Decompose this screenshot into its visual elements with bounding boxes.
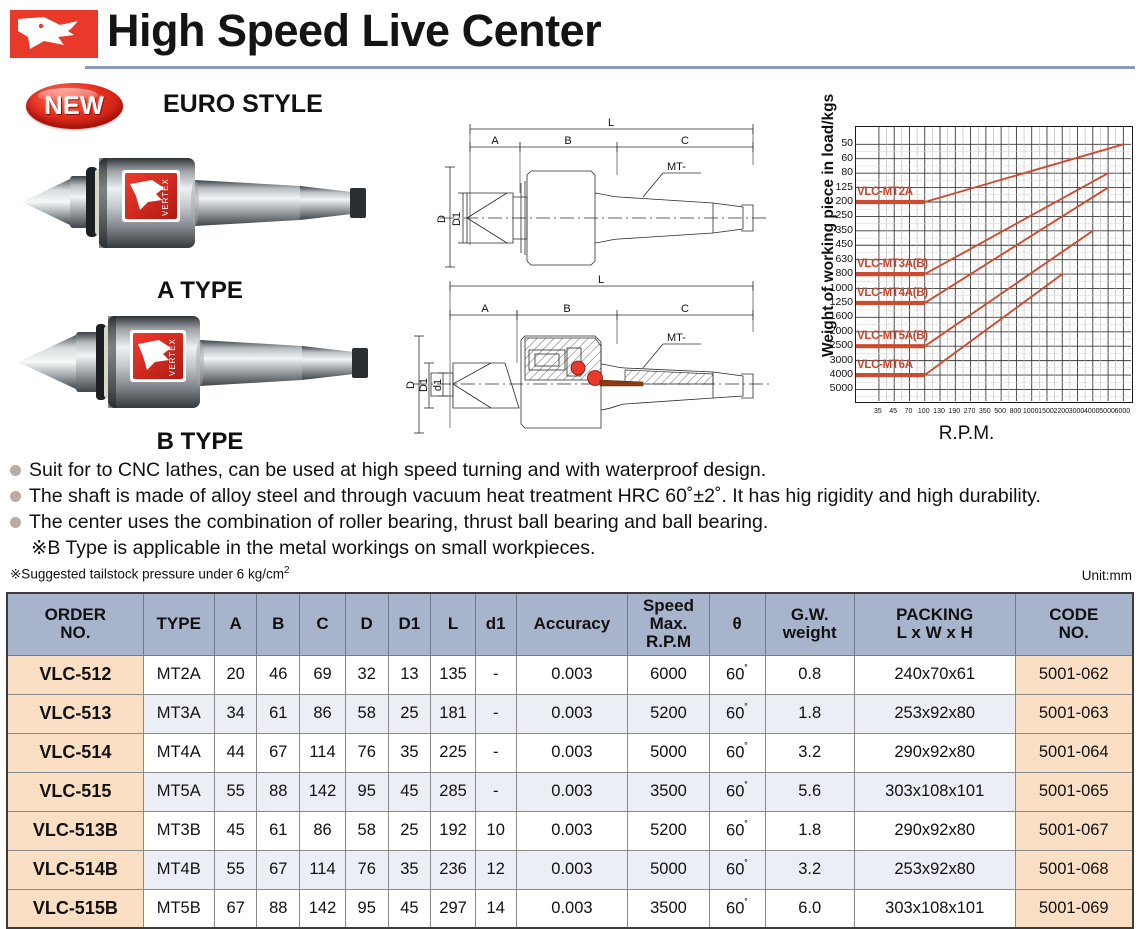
technical-drawing-a-type: L A B C MT- D D1 [395,115,785,275]
col-code-no: CODE NO. [1015,593,1133,655]
cell-l: 225 [431,733,476,772]
cell-d1l: 12 [475,850,516,889]
unit-note: Unit:mm [1082,568,1132,583]
cell-order-no: VLC-514B [7,850,143,889]
cell-type: MT2A [143,655,214,694]
bullet-text: The center uses the combination of rolle… [29,510,768,535]
cell-order-no: VLC-513 [7,694,143,733]
tailstock-pressure-text: ※Suggested tailstock pressure under 6 kg… [10,567,284,582]
svg-text:A: A [481,303,489,315]
cell-c: 114 [300,733,346,772]
cell-d1l: 10 [475,811,516,850]
chart-x-tick-label: 1000 [1023,408,1039,415]
list-item: The center uses the combination of rolle… [10,510,1140,535]
table-row: VLC-514MT4A44671147635225-0.003500060˚3.… [7,733,1133,772]
specification-table: ORDER NO. TYPE A B C D D1 L d1 Accuracy … [6,592,1134,929]
cell-a: 34 [214,694,257,733]
col-packing-line1: PACKING [855,606,1015,624]
cell-d1u: 13 [388,655,431,694]
chart-x-tick-label: 130 [933,408,945,415]
cell-b: 67 [257,850,300,889]
cell-speed: 3500 [628,889,709,928]
photo-caption-b: B TYPE [0,428,400,456]
cell-theta: 60˚ [709,850,765,889]
chart-series-label: VLC-MT5A(B) [857,330,928,342]
cell-d: 95 [345,772,388,811]
chart-y-tick-label: 125 [797,181,853,193]
chart-y-tick-label: 4000 [797,368,853,380]
svg-text:d1: d1 [432,379,444,391]
chart-x-tick-label: 100 [918,408,930,415]
svg-text:MT-: MT- [667,332,686,344]
table-row: VLC-513MT3A3461865825181-0.003520060˚1.8… [7,694,1133,733]
chart-x-tick-label: 35 [874,408,882,415]
cell-speed: 3500 [628,772,709,811]
cell-d: 58 [345,694,388,733]
cell-b: 61 [257,811,300,850]
cell-order-no: VLC-513B [7,811,143,850]
cell-b: 88 [257,889,300,928]
cell-code-no: 5001-065 [1015,772,1133,811]
svg-text:B: B [563,303,570,315]
cell-l: 181 [431,694,476,733]
cell-speed: 5200 [628,694,709,733]
pressure-exponent: 2 [284,565,290,576]
cell-l: 236 [431,850,476,889]
chart-series-label: VLC-MT4A(B) [857,287,928,299]
cell-type: MT3A [143,694,214,733]
cell-speed: 5200 [628,811,709,850]
col-order-no: ORDER NO. [7,593,143,655]
chart-y-tick-label: 80 [797,166,853,178]
cell-type: MT5A [143,772,214,811]
chart-series-label: VLC-MT2A [857,186,913,198]
cell-gw: 1.8 [765,694,854,733]
cell-gw: 3.2 [765,850,854,889]
cell-l: 135 [431,655,476,694]
col-packing-line2: L x W x H [855,624,1015,642]
cell-b: 46 [257,655,300,694]
cell-packing: 253x92x80 [854,850,1015,889]
cell-gw: 5.6 [765,772,854,811]
cell-a: 55 [214,772,257,811]
new-badge: NEW [26,83,123,129]
product-photo-b-type: VERTEX [0,300,400,425]
cell-type: MT5B [143,889,214,928]
list-item: Suit for to CNC lathes, can be used at h… [10,458,1140,483]
col-d: D [345,593,388,655]
table-row: VLC-512MT2A2046693213135-0.003600060˚0.8… [7,655,1133,694]
cell-packing: 290x92x80 [854,811,1015,850]
chart-x-tick-label: 4000 [1084,408,1100,415]
cell-order-no: VLC-515B [7,889,143,928]
cell-code-no: 5001-067 [1015,811,1133,850]
cell-d: 76 [345,850,388,889]
svg-text:D1: D1 [451,212,463,226]
svg-text:L: L [598,274,604,286]
col-gw-line1: G.W. [766,606,854,624]
chart-y-tick-label: 3000 [797,354,853,366]
list-item: The shaft is made of alloy steel and thr… [10,484,1140,509]
cell-a: 67 [214,889,257,928]
chart-x-tick-label: 6000 [1115,408,1131,415]
cell-accuracy: 0.003 [516,889,628,928]
bullet-text: The shaft is made of alloy steel and thr… [29,484,1041,509]
cell-theta: 60˚ [709,811,765,850]
col-l: L [431,593,476,655]
svg-text:D1: D1 [418,378,430,392]
chart-y-tick-label: 2500 [797,339,853,351]
cell-d1l: 14 [475,889,516,928]
table-header-row: ORDER NO. TYPE A B C D D1 L d1 Accuracy … [7,593,1133,655]
cell-d1u: 45 [388,772,431,811]
chart-y-tick-label: 2000 [797,325,853,337]
svg-text:MT-: MT- [667,161,686,173]
cell-l: 285 [431,772,476,811]
page-title: High Speed Live Center [107,5,601,57]
cell-speed: 5000 [628,850,709,889]
cell-packing: 303x108x101 [854,889,1015,928]
cell-l: 297 [431,889,476,928]
svg-text:C: C [681,135,689,147]
svg-text:A: A [491,135,499,147]
feature-bullet-list: Suit for to CNC lathes, can be used at h… [10,458,1140,561]
cell-type: MT4A [143,733,214,772]
cell-speed: 6000 [628,655,709,694]
cell-code-no: 5001-062 [1015,655,1133,694]
col-gw-line2: weight [766,624,854,642]
cell-accuracy: 0.003 [516,772,628,811]
cell-b: 88 [257,772,300,811]
chart-y-tick-label: 60 [797,152,853,164]
col-speed-line3: R.P.M [628,633,708,651]
svg-text:D: D [405,381,417,389]
chart-x-tick-label: 800 [1010,408,1022,415]
chart-x-tick-label: 5000 [1099,408,1115,415]
cell-theta: 60˚ [709,772,765,811]
cell-order-no: VLC-514 [7,733,143,772]
cell-gw: 1.8 [765,811,854,850]
cell-d1u: 25 [388,811,431,850]
chart-x-tick-label: 1500 [1038,408,1054,415]
col-theta: θ [709,593,765,655]
cell-d1l: - [475,655,516,694]
sub-note: ※B Type is applicable in the metal worki… [31,536,1140,561]
cell-accuracy: 0.003 [516,694,628,733]
chart-y-ticks: 5060801252002503504506308001000125016002… [793,118,853,403]
cell-theta: 60˚ [709,694,765,733]
cell-gw: 6.0 [765,889,854,928]
col-speed-line1: Speed [628,597,708,615]
chart-series-label: VLC-MT6A [857,359,913,371]
cell-c: 114 [300,850,346,889]
cell-theta: 60˚ [709,889,765,928]
load-vs-rpm-chart: Weight of working piece in load/kgs 5060… [793,118,1140,448]
bullet-dot-icon [10,517,21,528]
svg-text:VERTEX: VERTEX [161,178,170,216]
chart-x-tick-label: 70 [905,408,913,415]
cell-accuracy: 0.003 [516,733,628,772]
cell-d1u: 25 [388,694,431,733]
chart-y-tick-label: 800 [797,267,853,279]
chart-y-tick-label: 50 [797,137,853,149]
cell-d1l: - [475,733,516,772]
cell-a: 20 [214,655,257,694]
cell-d: 32 [345,655,388,694]
cell-a: 45 [214,811,257,850]
col-b: B [257,593,300,655]
cell-order-no: VLC-515 [7,772,143,811]
cell-l: 192 [431,811,476,850]
chart-x-tick-label: 350 [979,408,991,415]
cell-d: 76 [345,733,388,772]
chart-y-tick-label: 350 [797,224,853,236]
col-code-line2: NO. [1016,624,1133,642]
svg-text:D: D [436,215,448,223]
cell-d1l: - [475,772,516,811]
cell-accuracy: 0.003 [516,850,628,889]
chart-x-ticks: 3545701001301902703505008001000150022003… [855,408,1133,422]
page-header: High Speed Live Center [0,0,1140,70]
tailstock-pressure-note: ※Suggested tailstock pressure under 6 kg… [10,565,290,583]
col-speed-max-rpm: Speed Max. R.P.M [628,593,709,655]
cell-a: 55 [214,850,257,889]
chart-y-tick-label: 630 [797,253,853,265]
bullet-dot-icon [10,465,21,476]
chart-y-tick-label: 450 [797,238,853,250]
table-row: VLC-515BMT5B67881429545297140.003350060˚… [7,889,1133,928]
chart-x-axis-title: R.P.M. [793,423,1140,445]
cell-order-no: VLC-512 [7,655,143,694]
cell-b: 67 [257,733,300,772]
svg-text:VERTEX: VERTEX [168,338,177,376]
cell-speed: 5000 [628,733,709,772]
cell-d1u: 45 [388,889,431,928]
cell-d: 58 [345,811,388,850]
chart-y-tick-label: 200 [797,195,853,207]
chart-y-tick-label: 1600 [797,310,853,322]
cell-theta: 60˚ [709,655,765,694]
technical-drawing-b-type: L A B C MT- D D1 d1 [395,268,785,443]
chart-series-label: VLC-MT3A(B) [857,258,928,270]
cell-c: 142 [300,772,346,811]
col-gw-weight: G.W. weight [765,593,854,655]
product-photo-a-type: VERTEX [0,140,400,265]
table-row: VLC-514BMT4B55671147635236120.003500060˚… [7,850,1133,889]
cell-code-no: 5001-068 [1015,850,1133,889]
col-speed-line2: Max. [628,615,708,633]
cell-d: 95 [345,889,388,928]
table-body: VLC-512MT2A2046693213135-0.003600060˚0.8… [7,655,1133,928]
chart-x-tick-label: 190 [948,408,960,415]
col-c: C [300,593,346,655]
svg-text:L: L [608,117,614,129]
cell-accuracy: 0.003 [516,811,628,850]
col-accuracy: Accuracy [516,593,628,655]
svg-text:B: B [564,135,571,147]
col-order-line2: NO. [8,624,143,642]
col-packing: PACKING L x W x H [854,593,1015,655]
cell-a: 44 [214,733,257,772]
cell-d1u: 35 [388,850,431,889]
chart-y-tick-label: 1000 [797,282,853,294]
cell-d1l: - [475,694,516,733]
cell-type: MT4B [143,850,214,889]
chart-x-tick-label: 3000 [1069,408,1085,415]
cell-gw: 0.8 [765,655,854,694]
col-code-line1: CODE [1016,606,1133,624]
title-divider [85,66,1135,69]
table-row: VLC-515MT5A55881429545285-0.003350060˚5.… [7,772,1133,811]
cell-code-no: 5001-064 [1015,733,1133,772]
chart-y-tick-label: 5000 [797,382,853,394]
cell-packing: 303x108x101 [854,772,1015,811]
col-order-line1: ORDER [8,606,143,624]
cell-d1u: 35 [388,733,431,772]
col-a: A [214,593,257,655]
cell-accuracy: 0.003 [516,655,628,694]
chart-x-tick-label: 270 [964,408,976,415]
subtitle-euro-style: EURO STYLE [163,90,323,119]
cell-b: 61 [257,694,300,733]
col-type: TYPE [143,593,214,655]
bullet-text: Suit for to CNC lathes, can be used at h… [29,458,766,483]
table-row: VLC-513BMT3B4561865825192100.003520060˚1… [7,811,1133,850]
new-badge-label: NEW [26,83,123,129]
cell-code-no: 5001-069 [1015,889,1133,928]
bullet-dot-icon [10,491,21,502]
chart-x-tick-label: 45 [889,408,897,415]
cell-code-no: 5001-063 [1015,694,1133,733]
cell-gw: 3.2 [765,733,854,772]
cell-packing: 290x92x80 [854,733,1015,772]
chart-y-tick-label: 250 [797,209,853,221]
cell-packing: 240x70x61 [854,655,1015,694]
chart-x-tick-label: 500 [994,408,1006,415]
cell-c: 86 [300,694,346,733]
cell-type: MT3B [143,811,214,850]
col-d1-lower: d1 [475,593,516,655]
cell-packing: 253x92x80 [854,694,1015,733]
cell-c: 69 [300,655,346,694]
cell-c: 142 [300,889,346,928]
svg-text:C: C [681,303,689,315]
cell-c: 86 [300,811,346,850]
cell-theta: 60˚ [709,733,765,772]
chart-y-tick-label: 1250 [797,296,853,308]
chart-x-tick-label: 2200 [1053,408,1069,415]
eagle-head-logo [10,10,98,58]
col-d1-upper: D1 [388,593,431,655]
table-head: ORDER NO. TYPE A B C D D1 L d1 Accuracy … [7,593,1133,655]
